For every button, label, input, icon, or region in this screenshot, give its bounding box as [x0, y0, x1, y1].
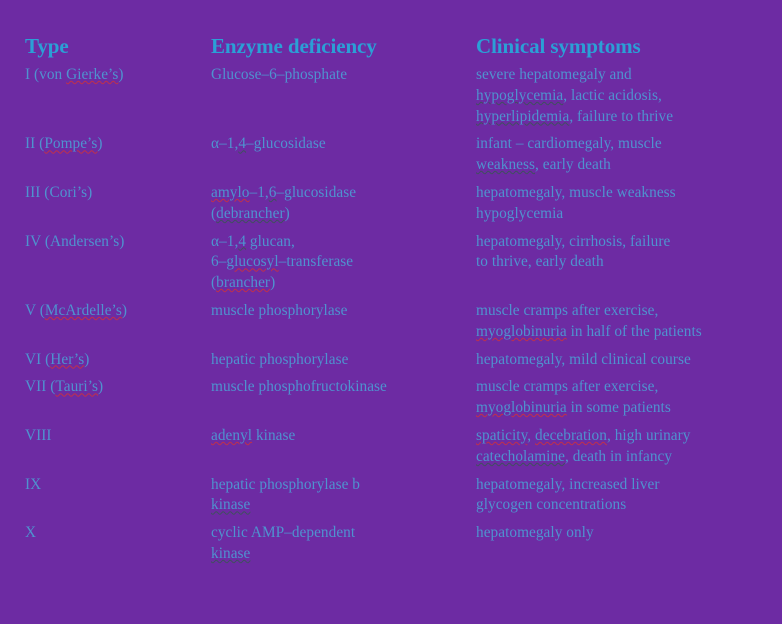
table-row: IXhepatic phosphorylase bkinasehepatomeg… [25, 475, 765, 517]
table-body: I (von Gierke’s)Glucose–6–phosphatesever… [25, 65, 765, 565]
cell-clinical-symptoms: hepatomegaly, cirrhosis, failureto thriv… [476, 232, 765, 274]
cell-enzyme-deficiency: α–1,4 glucan,6–glucosyl–transferase(bran… [211, 232, 476, 294]
table-row: I (von Gierke’s)Glucose–6–phosphatesever… [25, 65, 765, 127]
cell-clinical-symptoms: muscle cramps after exercise,myoglobinur… [476, 377, 765, 419]
cell-type: IX [25, 475, 211, 496]
cell-enzyme-deficiency: muscle phosphorylase [211, 301, 476, 322]
cell-clinical-symptoms: infant – cardiomegaly, muscleweakness, e… [476, 134, 765, 176]
cell-enzyme-deficiency: hepatic phosphorylase [211, 350, 476, 371]
cell-clinical-symptoms: hepatomegaly, muscle weaknesshypoglycemi… [476, 183, 765, 225]
cell-type: V (McArdelle’s) [25, 301, 211, 322]
cell-clinical-symptoms: hepatomegaly, increased liverglycogen co… [476, 475, 765, 517]
cell-type: I (von Gierke’s) [25, 65, 211, 86]
cell-clinical-symptoms: hepatomegaly only [476, 523, 765, 544]
cell-enzyme-deficiency: muscle phosphofructokinase [211, 377, 476, 398]
cell-clinical-symptoms: spaticity, decebration, high urinarycate… [476, 426, 765, 468]
cell-enzyme-deficiency: Glucose–6–phosphate [211, 65, 476, 86]
cell-type: II (Pompe’s) [25, 134, 211, 155]
table-row: Xcyclic AMP–dependentkinasehepatomegaly … [25, 523, 765, 565]
table-row: III (Cori’s)amylo–1,6–glucosidase(debran… [25, 183, 765, 225]
table-row: V (McArdelle’s)muscle phosphorylasemuscl… [25, 301, 765, 343]
cell-type: III (Cori’s) [25, 183, 211, 204]
column-header-type: Type [25, 33, 211, 59]
cell-enzyme-deficiency: cyclic AMP–dependentkinase [211, 523, 476, 565]
document-page: Type Enzyme deficiency Clinical symptoms… [0, 0, 782, 624]
cell-enzyme-deficiency: adenyl kinase [211, 426, 476, 447]
table-row: II (Pompe’s)α–1,4–glucosidaseinfant – ca… [25, 134, 765, 176]
table-row: VII (Tauri’s)muscle phosphofructokinasem… [25, 377, 765, 419]
table-row: VIIIadenyl kinasespaticity, decebration,… [25, 426, 765, 468]
cell-clinical-symptoms: muscle cramps after exercise,myoglobinur… [476, 301, 765, 343]
table-row: VI (Her’s)hepatic phosphorylasehepatomeg… [25, 350, 765, 371]
cell-type: IV (Andersen’s) [25, 232, 211, 253]
table-row: IV (Andersen’s)α–1,4 glucan,6–glucosyl–t… [25, 232, 765, 294]
cell-enzyme-deficiency: amylo–1,6–glucosidase(debrancher) [211, 183, 476, 225]
cell-type: VI (Her’s) [25, 350, 211, 371]
column-header-clinical-symptoms: Clinical symptoms [476, 33, 765, 59]
table-header-row: Type Enzyme deficiency Clinical symptoms [25, 33, 765, 59]
column-header-enzyme-deficiency: Enzyme deficiency [211, 33, 476, 59]
cell-type: X [25, 523, 211, 544]
cell-enzyme-deficiency: hepatic phosphorylase bkinase [211, 475, 476, 517]
cell-type: VII (Tauri’s) [25, 377, 211, 398]
cell-enzyme-deficiency: α–1,4–glucosidase [211, 134, 476, 155]
cell-type: VIII [25, 426, 211, 447]
glycogen-storage-disease-table: Type Enzyme deficiency Clinical symptoms… [25, 33, 765, 572]
cell-clinical-symptoms: hepatomegaly, mild clinical course [476, 350, 765, 371]
cell-clinical-symptoms: severe hepatomegaly andhypoglycemia, lac… [476, 65, 765, 127]
